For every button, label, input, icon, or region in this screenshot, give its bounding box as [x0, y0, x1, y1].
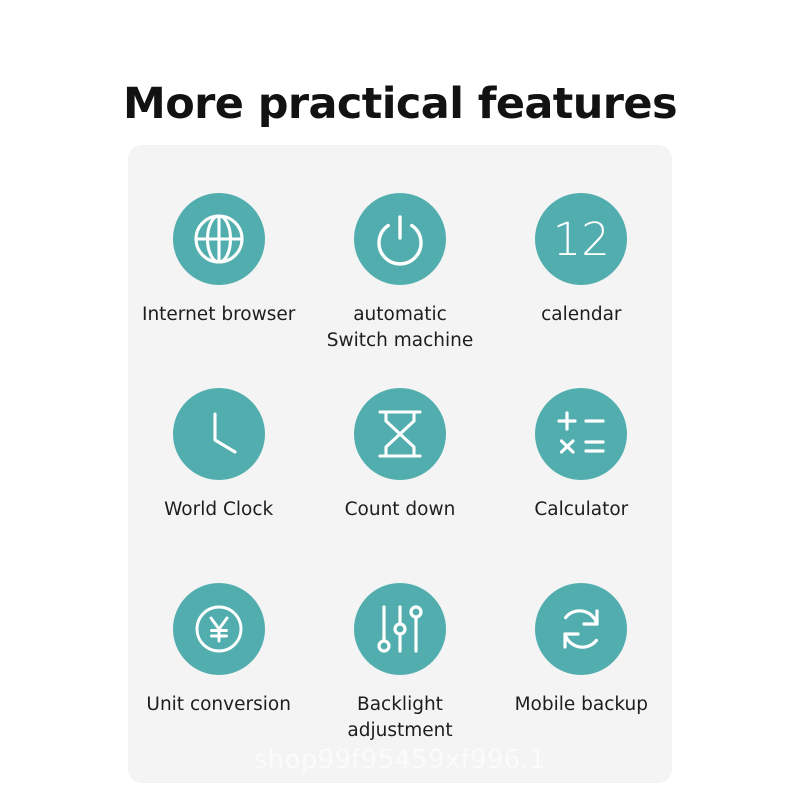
- feature-showcase-page: More practical features Internet browser: [0, 0, 800, 800]
- feature-item-unit-conversion[interactable]: Unit conversion: [128, 581, 309, 776]
- feature-label: Unit conversion: [146, 692, 291, 718]
- feature-label: Calculator: [534, 497, 628, 523]
- yen-coin-icon: [173, 583, 265, 675]
- feature-item-count-down[interactable]: Count down: [309, 386, 490, 581]
- feature-label: Internet browser: [142, 302, 295, 328]
- page-title: More practical features: [0, 81, 800, 128]
- globe-icon: [173, 193, 265, 285]
- feature-item-internet-browser[interactable]: Internet browser: [128, 191, 309, 386]
- power-icon: [354, 193, 446, 285]
- feature-label: Count down: [345, 497, 456, 523]
- feature-grid: Internet browser automatic Switch machin…: [128, 191, 672, 776]
- feature-label: World Clock: [164, 497, 273, 523]
- clock-hands-icon: [173, 388, 265, 480]
- feature-item-mobile-backup[interactable]: Mobile backup: [491, 581, 672, 776]
- calendar-icon-number: 12: [553, 217, 610, 262]
- calculator-operators-icon: [535, 388, 627, 480]
- sync-arrows-icon: [535, 583, 627, 675]
- feature-item-world-clock[interactable]: World Clock: [128, 386, 309, 581]
- feature-label: Mobile backup: [515, 692, 648, 718]
- hourglass-icon: [354, 388, 446, 480]
- calendar-icon: 12: [535, 193, 627, 285]
- sliders-icon: [354, 583, 446, 675]
- feature-item-automatic-switch-machine[interactable]: automatic Switch machine: [309, 191, 490, 386]
- feature-label: calendar: [541, 302, 621, 328]
- feature-item-backlight-adjustment[interactable]: Backlight adjustment: [309, 581, 490, 776]
- feature-label: automatic Switch machine: [327, 302, 474, 355]
- feature-item-calculator[interactable]: Calculator: [491, 386, 672, 581]
- feature-item-calendar[interactable]: 12 calendar: [491, 191, 672, 386]
- feature-card: Internet browser automatic Switch machin…: [128, 145, 672, 783]
- feature-label: Backlight adjustment: [347, 692, 452, 745]
